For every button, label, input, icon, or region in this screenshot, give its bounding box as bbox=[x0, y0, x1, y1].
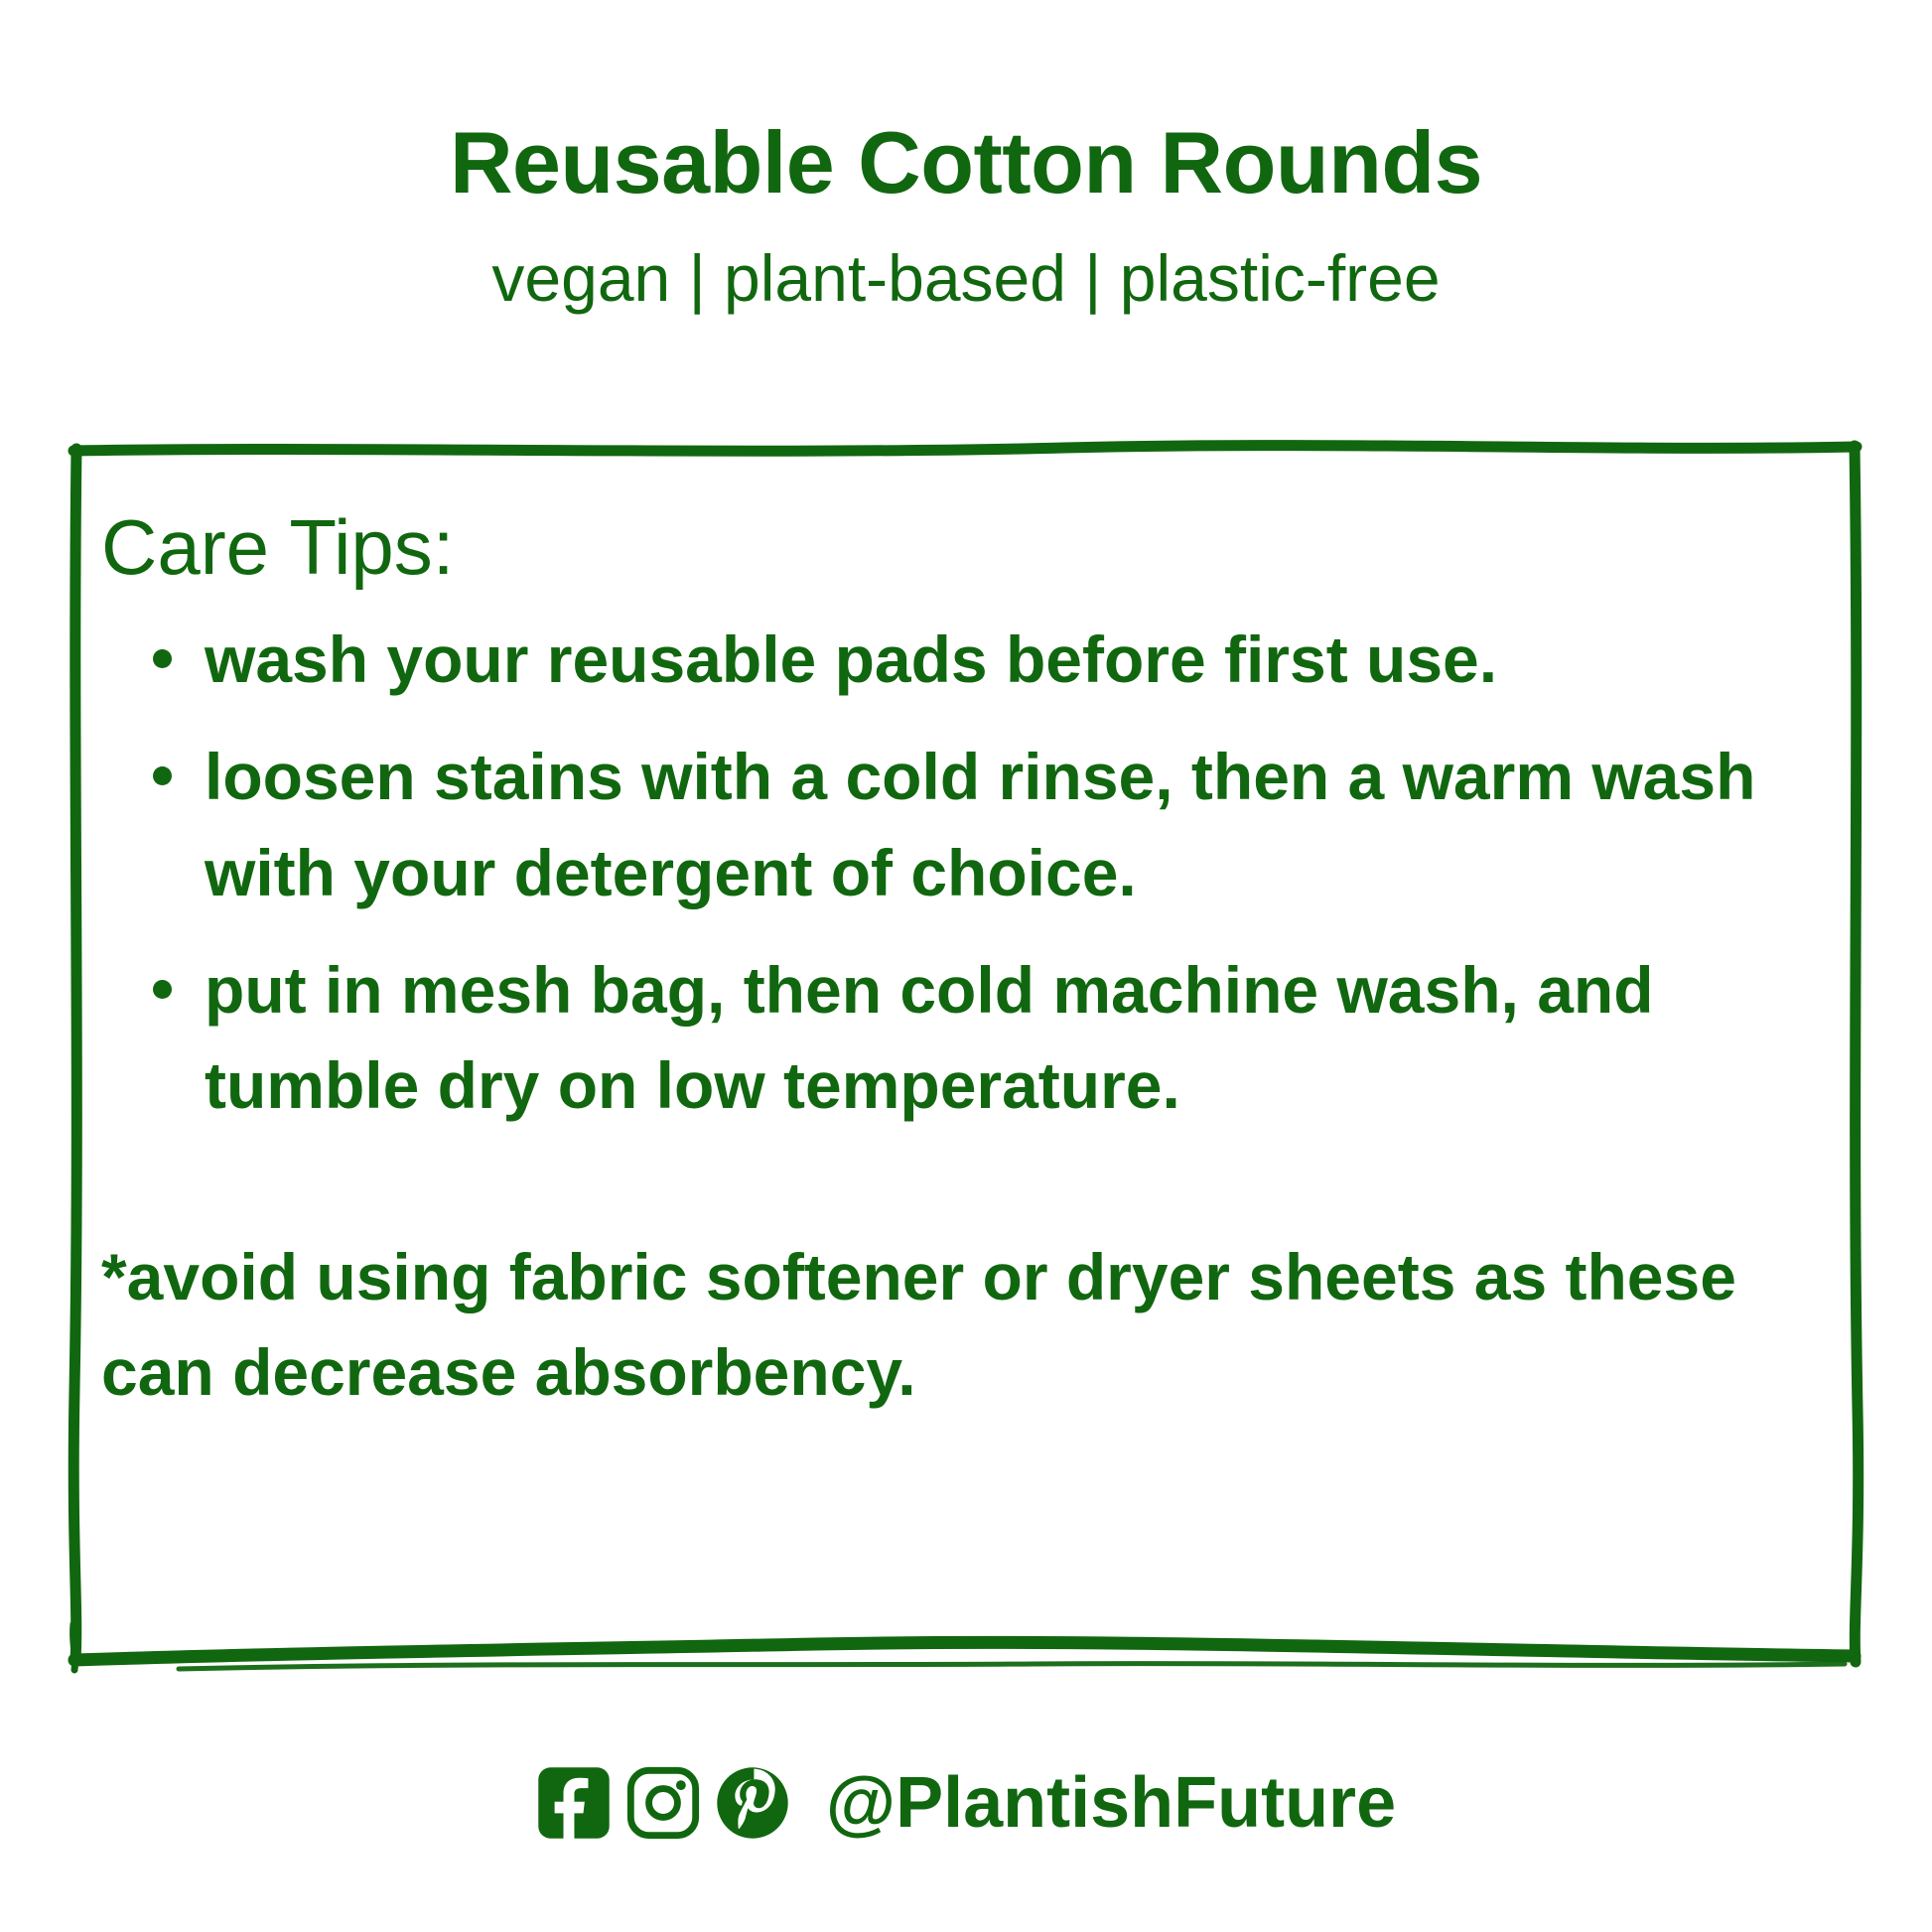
list-item-text: wash your reusable pads before first use… bbox=[205, 622, 1497, 696]
page-title: Reusable Cotton Rounds bbox=[0, 117, 1932, 208]
poster-header: Reusable Cotton Rounds vegan | plant-bas… bbox=[0, 117, 1932, 315]
instagram-icon[interactable] bbox=[625, 1765, 701, 1841]
bullet-icon bbox=[153, 766, 172, 785]
care-tips-heading: Care Tips: bbox=[101, 508, 1829, 586]
care-tips-list: wash your reusable pads before first use… bbox=[101, 612, 1829, 1134]
facebook-icon[interactable] bbox=[536, 1765, 612, 1841]
poster-canvas: Reusable Cotton Rounds vegan | plant-bas… bbox=[0, 0, 1932, 1932]
list-item: loosen stains with a cold rinse, then a … bbox=[101, 729, 1813, 920]
social-footer: @PlantishFuture bbox=[0, 1765, 1932, 1841]
list-item: put in mesh bag, then cold machine wash,… bbox=[101, 942, 1813, 1134]
bullet-icon bbox=[153, 649, 172, 668]
care-tips-card: Care Tips: wash your reusable pads befor… bbox=[62, 437, 1868, 1674]
list-item-text: loosen stains with a cold rinse, then a … bbox=[205, 740, 1755, 908]
page-subtitle: vegan | plant-based | plastic-free bbox=[0, 242, 1932, 315]
bullet-icon bbox=[153, 980, 172, 999]
pinterest-icon[interactable] bbox=[715, 1765, 790, 1841]
card-content: Care Tips: wash your reusable pads befor… bbox=[101, 508, 1829, 1421]
social-handle: @PlantishFuture bbox=[826, 1767, 1396, 1839]
list-item: wash your reusable pads before first use… bbox=[101, 612, 1813, 707]
list-item-text: put in mesh bag, then cold machine wash,… bbox=[205, 953, 1654, 1122]
care-note: *avoid using fabric softener or dryer sh… bbox=[101, 1229, 1789, 1421]
